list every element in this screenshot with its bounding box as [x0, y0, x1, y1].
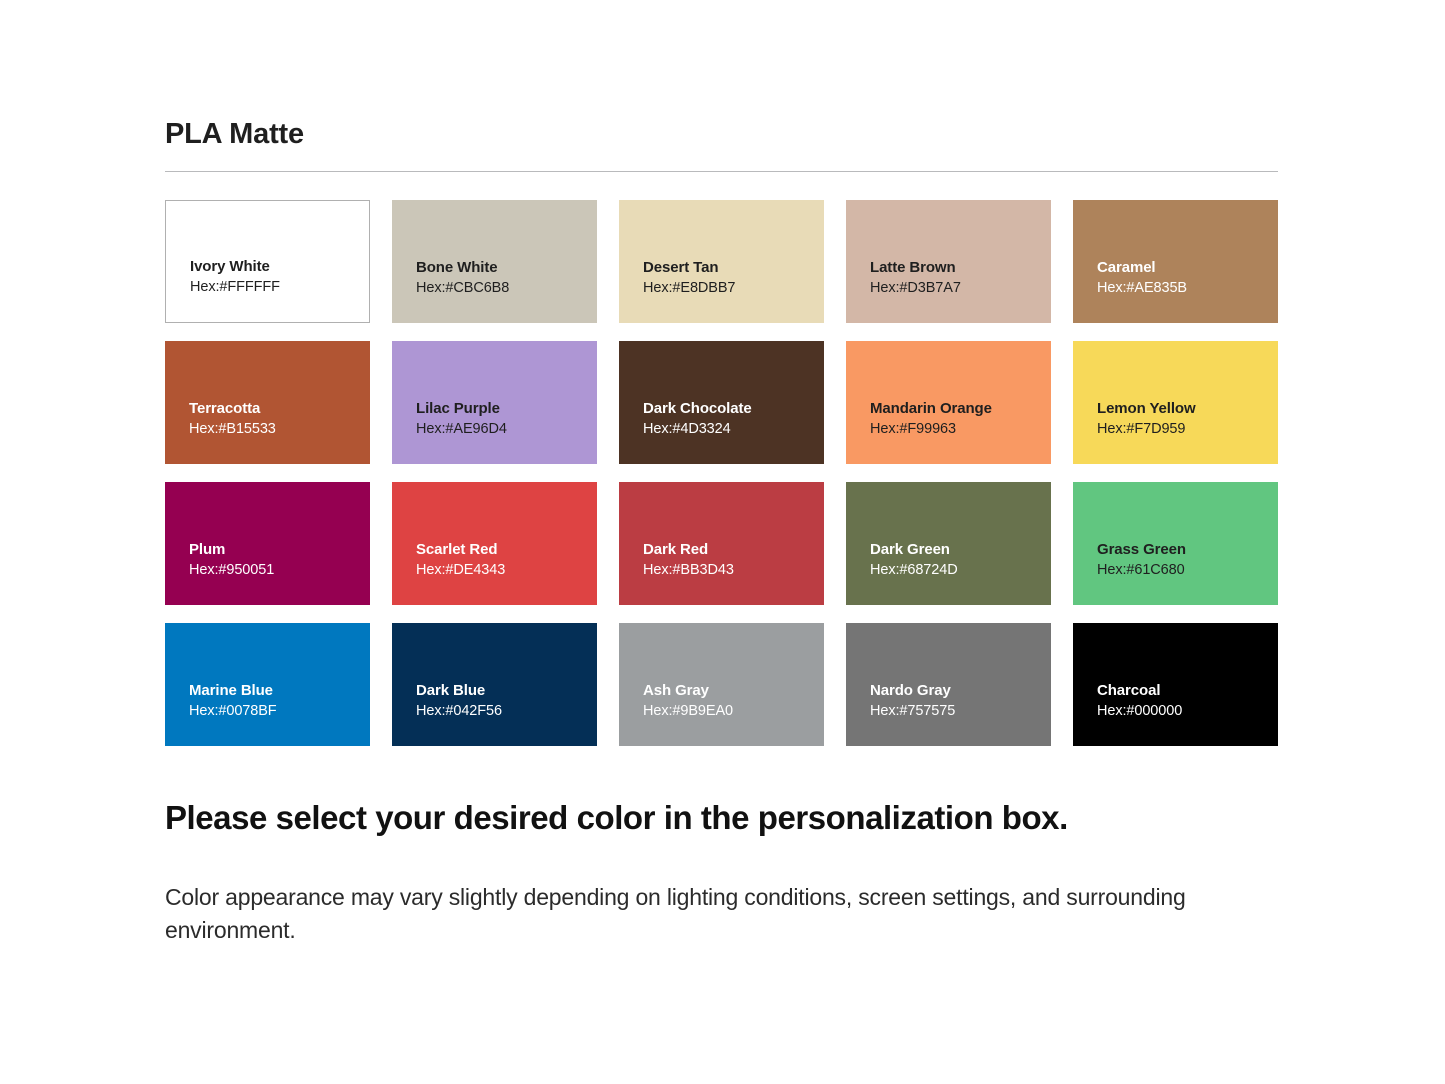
- color-disclaimer-text: Color appearance may vary slightly depen…: [165, 881, 1225, 947]
- swatch-name-label: Plum: [189, 540, 370, 560]
- swatch-name-label: Dark Blue: [416, 681, 597, 701]
- swatch-name-label: Latte Brown: [870, 258, 1051, 278]
- swatch-hex-label: Hex:#042F56: [416, 701, 597, 722]
- swatch-name-label: Dark Red: [643, 540, 824, 560]
- color-swatch[interactable]: CharcoalHex:#000000: [1073, 623, 1278, 746]
- swatch-name-label: Terracotta: [189, 399, 370, 419]
- swatch-name-label: Desert Tan: [643, 258, 824, 278]
- color-swatch[interactable]: Mandarin OrangeHex:#F99963: [846, 341, 1051, 464]
- swatch-name-label: Mandarin Orange: [870, 399, 1051, 419]
- swatch-name-label: Bone White: [416, 258, 597, 278]
- color-swatch[interactable]: Lemon YellowHex:#F7D959: [1073, 341, 1278, 464]
- swatch-name-label: Ash Gray: [643, 681, 824, 701]
- swatch-name-label: Marine Blue: [189, 681, 370, 701]
- swatch-name-label: Ivory White: [190, 257, 369, 277]
- color-swatch[interactable]: Grass GreenHex:#61C680: [1073, 482, 1278, 605]
- swatch-name-label: Dark Chocolate: [643, 399, 824, 419]
- swatch-hex-label: Hex:#61C680: [1097, 560, 1278, 581]
- swatch-hex-label: Hex:#950051: [189, 560, 370, 581]
- swatch-hex-label: Hex:#AE96D4: [416, 419, 597, 440]
- swatch-hex-label: Hex:#F99963: [870, 419, 1051, 440]
- color-swatch[interactable]: CaramelHex:#AE835B: [1073, 200, 1278, 323]
- swatch-name-label: Lilac Purple: [416, 399, 597, 419]
- color-swatch[interactable]: Dark BlueHex:#042F56: [392, 623, 597, 746]
- color-swatch[interactable]: Nardo GrayHex:#757575: [846, 623, 1051, 746]
- color-swatch[interactable]: Dark GreenHex:#68724D: [846, 482, 1051, 605]
- color-swatch[interactable]: Ivory WhiteHex:#FFFFFF: [165, 200, 370, 323]
- swatch-hex-label: Hex:#AE835B: [1097, 278, 1278, 299]
- swatch-hex-label: Hex:#0078BF: [189, 701, 370, 722]
- color-swatch[interactable]: Dark RedHex:#BB3D43: [619, 482, 824, 605]
- swatch-hex-label: Hex:#BB3D43: [643, 560, 824, 581]
- header-divider: [165, 171, 1278, 172]
- swatch-hex-label: Hex:#4D3324: [643, 419, 824, 440]
- swatch-name-label: Scarlet Red: [416, 540, 597, 560]
- swatch-name-label: Grass Green: [1097, 540, 1278, 560]
- color-swatch[interactable]: Marine BlueHex:#0078BF: [165, 623, 370, 746]
- color-swatch[interactable]: TerracottaHex:#B15533: [165, 341, 370, 464]
- color-swatch[interactable]: Lilac PurpleHex:#AE96D4: [392, 341, 597, 464]
- swatch-hex-label: Hex:#FFFFFF: [190, 277, 369, 298]
- swatch-hex-label: Hex:#B15533: [189, 419, 370, 440]
- swatch-hex-label: Hex:#E8DBB7: [643, 278, 824, 299]
- color-swatch[interactable]: Scarlet RedHex:#DE4343: [392, 482, 597, 605]
- swatch-hex-label: Hex:#D3B7A7: [870, 278, 1051, 299]
- color-swatch-grid: Ivory WhiteHex:#FFFFFFBone WhiteHex:#CBC…: [165, 200, 1278, 746]
- instruction-headline: Please select your desired color in the …: [165, 798, 1315, 838]
- swatch-hex-label: Hex:#9B9EA0: [643, 701, 824, 722]
- page-title: PLA Matte: [165, 118, 304, 151]
- color-swatch[interactable]: Bone WhiteHex:#CBC6B8: [392, 200, 597, 323]
- swatch-name-label: Caramel: [1097, 258, 1278, 278]
- swatch-name-label: Charcoal: [1097, 681, 1278, 701]
- color-swatch[interactable]: Desert TanHex:#E8DBB7: [619, 200, 824, 323]
- color-swatch[interactable]: Latte BrownHex:#D3B7A7: [846, 200, 1051, 323]
- color-chart-page: PLA Matte Ivory WhiteHex:#FFFFFFBone Whi…: [0, 0, 1445, 1084]
- swatch-hex-label: Hex:#CBC6B8: [416, 278, 597, 299]
- swatch-hex-label: Hex:#68724D: [870, 560, 1051, 581]
- swatch-hex-label: Hex:#DE4343: [416, 560, 597, 581]
- swatch-name-label: Lemon Yellow: [1097, 399, 1278, 419]
- color-swatch[interactable]: Ash GrayHex:#9B9EA0: [619, 623, 824, 746]
- color-swatch[interactable]: Dark ChocolateHex:#4D3324: [619, 341, 824, 464]
- color-swatch[interactable]: PlumHex:#950051: [165, 482, 370, 605]
- swatch-hex-label: Hex:#F7D959: [1097, 419, 1278, 440]
- swatch-hex-label: Hex:#000000: [1097, 701, 1278, 722]
- swatch-name-label: Dark Green: [870, 540, 1051, 560]
- swatch-hex-label: Hex:#757575: [870, 701, 1051, 722]
- swatch-name-label: Nardo Gray: [870, 681, 1051, 701]
